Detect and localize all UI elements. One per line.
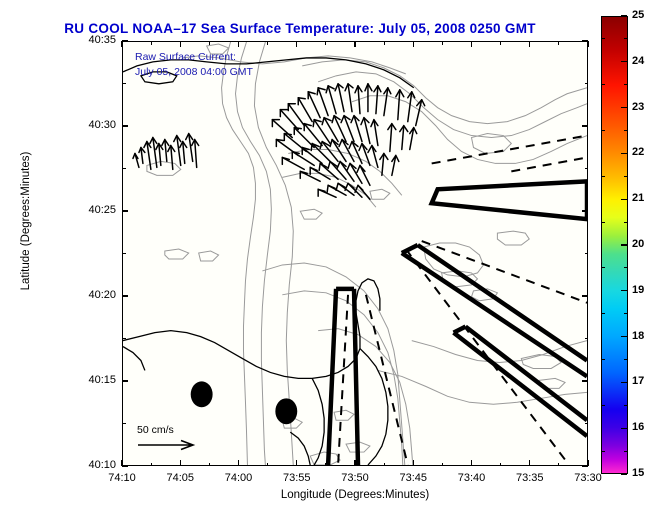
y-axis-tick [122,210,128,211]
y-axis-minor-tick [122,83,126,84]
colorbar-tick [621,244,627,245]
x-axis-tick [413,460,414,466]
y-axis-minor-tick-right [585,83,589,84]
x-axis-tick-top [238,41,239,47]
y-axis-minor-tick-right [585,253,589,254]
y-axis-minor-tick-right [585,168,589,169]
x-axis-title: Longitude (Degrees:Minutes) [122,489,588,501]
colorbar-tick [621,61,627,62]
x-axis-tick-top [180,41,181,47]
colorbar-tick [621,382,627,383]
x-axis-tick [354,460,355,466]
x-axis-tick-top [296,41,297,47]
y-axis-tick [122,40,128,41]
colorbar-tick-label: 22 [632,146,644,158]
radar-beam-outlines [328,181,587,465]
x-axis-tick [238,460,239,466]
arrow-right-icon [137,439,199,451]
y-axis-tick-label: 40:15 [64,374,116,386]
colorbar-tick-label: 25 [632,9,644,21]
x-axis-minor-tick [384,463,385,467]
y-axis-minor-tick [122,253,126,254]
x-axis-minor-tick [151,463,152,467]
y-axis-tick-label: 40:10 [64,459,116,471]
colorbar-tick-label: 24 [632,55,644,67]
x-axis-tick-label: 74:10 [92,472,152,484]
x-axis-minor-tick-top [442,41,443,45]
colorbar-tick [621,336,627,337]
colorbar-tick [621,15,627,16]
vector-scale-legend: 50 cm/s [137,424,247,451]
colorbar-minor-tick [624,359,628,360]
x-axis-tick-top [587,41,588,47]
x-axis-tick-label: 73:35 [500,472,560,484]
x-axis-minor-tick-top [384,41,385,45]
surface-current-vectors [133,84,425,199]
x-axis-tick-top [121,41,122,47]
x-axis-minor-tick-top [151,41,152,45]
colorbar-tick [621,290,627,291]
x-axis-tick-label: 73:40 [442,472,502,484]
colorbar-minor-tick-left [601,38,605,39]
colorbar-tick-label: 16 [632,421,644,433]
station-marker[interactable] [191,381,213,407]
x-axis-minor-tick-top [267,41,268,45]
coastline [123,58,414,465]
colorbar-minor-tick [624,176,628,177]
colorbar-minor-tick-left [601,405,605,406]
colorbar-minor-tick [624,451,628,452]
colorbar-tick-label: 17 [632,375,644,387]
y-axis-tick-label: 40:20 [64,289,116,301]
x-axis-tick [180,460,181,466]
colorbar-minor-tick [624,130,628,131]
colorbar-tick [621,473,627,474]
x-axis-minor-tick [325,463,326,467]
colorbar-minor-tick-left [601,84,605,85]
colorbar-minor-tick [624,313,628,314]
colorbar-tick-label: 15 [632,467,644,479]
colorbar-minor-tick-left [601,176,605,177]
colorbar-tick [621,428,627,429]
x-axis-tick [471,460,472,466]
y-axis-tick [122,380,128,381]
y-axis-tick [122,125,128,126]
colorbar-tick [621,107,627,108]
map-canvas [123,42,587,465]
y-axis-minor-tick [122,338,126,339]
colorbar-minor-tick [624,267,628,268]
station-markers[interactable] [191,381,298,424]
colorbar-tick-label: 18 [632,330,644,342]
x-axis-minor-tick [500,463,501,467]
y-axis-tick-right [582,210,588,211]
current-annotation-line2: July 05, 2008 04:00 GMT [135,65,253,80]
x-axis-tick-label: 74:05 [150,472,210,484]
current-annotation: Raw Surface Current: July 05, 2008 04:00… [135,50,253,80]
x-axis-minor-tick-top [500,41,501,45]
colorbar-tick-label: 20 [632,238,644,250]
colorbar-minor-tick-left [601,130,605,131]
y-axis-tick-right [582,40,588,41]
colorbar-minor-tick [624,222,628,223]
y-axis-minor-tick-right [585,423,589,424]
x-axis-tick-top [529,41,530,47]
x-axis-tick-top [354,41,355,47]
colorbar-tick-label: 23 [632,101,644,113]
colorbar-tick [621,199,627,200]
y-axis-minor-tick [122,423,126,424]
colorbar-minor-tick [624,84,628,85]
colorbar-tick-label: 19 [632,284,644,296]
x-axis-tick-label: 73:55 [267,472,327,484]
y-axis-tick-label: 40:25 [64,204,116,216]
x-axis-tick-top [471,41,472,47]
y-axis-tick-label: 40:35 [64,34,116,46]
y-axis-title: Latitude (Degrees:Minutes) [20,111,32,331]
current-annotation-line1: Raw Surface Current: [135,50,253,65]
x-axis-tick-label: 73:50 [325,472,385,484]
y-axis-tick [122,295,128,296]
colorbar-minor-tick [624,38,628,39]
x-axis-minor-tick-top [325,41,326,45]
x-axis-tick [296,460,297,466]
colorbar-minor-tick-left [601,267,605,268]
map-plot-area[interactable]: Raw Surface Current: July 05, 2008 04:00… [122,41,588,466]
sst-map-figure: RU COOL NOAA–17 Sea Surface Temperature:… [0,0,651,518]
x-axis-minor-tick [209,463,210,467]
x-axis-minor-tick-top [558,41,559,45]
colorbar-minor-tick-left [601,359,605,360]
vector-scale-label: 50 cm/s [137,424,247,436]
colorbar-tick-label: 21 [632,192,644,204]
colorbar-tick [621,153,627,154]
y-axis-tick-right [582,465,588,466]
colorbar-minor-tick-left [601,222,605,223]
colorbar-minor-tick-left [601,451,605,452]
x-axis-minor-tick-top [209,41,210,45]
x-axis-minor-tick [442,463,443,467]
x-axis-minor-tick [267,463,268,467]
y-axis-tick-right [582,295,588,296]
x-axis-tick-label: 73:45 [383,472,443,484]
x-axis-minor-tick [558,463,559,467]
x-axis-tick [529,460,530,466]
y-axis-tick-right [582,380,588,381]
x-axis-tick-label: 74:00 [209,472,269,484]
y-axis-tick-right [582,125,588,126]
x-axis-tick-top [413,41,414,47]
y-axis-minor-tick-right [585,338,589,339]
y-axis-tick [122,465,128,466]
y-axis-tick-label: 40:30 [64,119,116,131]
colorbar-minor-tick-left [601,313,605,314]
y-axis-minor-tick [122,168,126,169]
colorbar-minor-tick [624,405,628,406]
station-marker[interactable] [275,398,297,424]
